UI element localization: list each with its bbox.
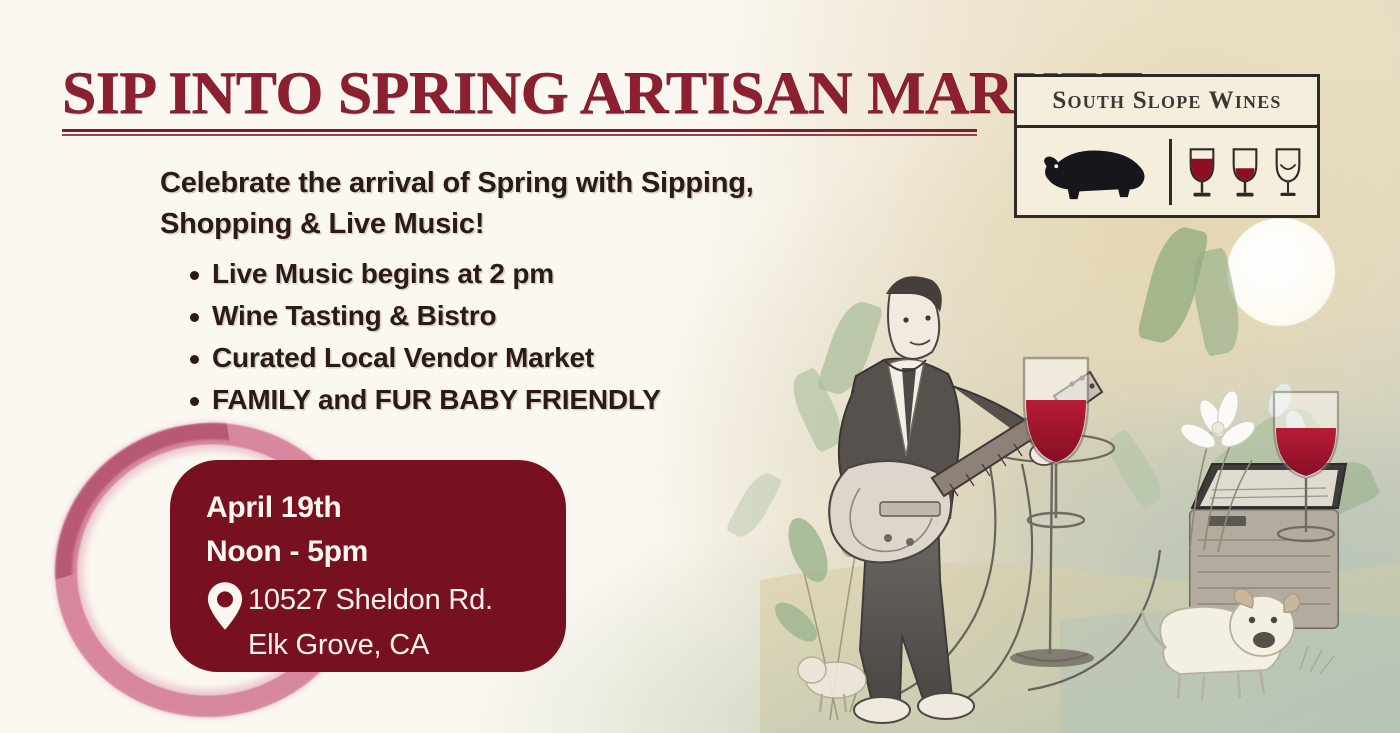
wine-glass-half-icon: [1228, 143, 1262, 201]
flyer-title-block: SIP INTO SPRING ARTISAN MARKET: [62, 62, 992, 136]
logo-emblem-bar: [1017, 128, 1317, 216]
pin-spacer: [206, 623, 250, 625]
lede-line-1: Celebrate the arrival of Spring with Sip…: [160, 163, 920, 204]
page-title: SIP INTO SPRING ARTISAN MARKET: [62, 62, 1020, 124]
logo-glass-group: [1172, 143, 1317, 201]
list-item: Live Music begins at 2 pm: [160, 253, 920, 295]
list-item: Curated Local Vendor Market: [160, 337, 920, 379]
title-underline-rule: [62, 129, 977, 136]
address-row-2: Elk Grove, CA: [206, 623, 536, 667]
wine-glass-empty-icon: [1271, 143, 1305, 201]
address-line-2: Elk Grove, CA: [248, 623, 429, 667]
map-pin-icon: [206, 578, 250, 637]
list-item: FAMILY and FUR BABY FRIENDLY: [160, 379, 920, 421]
logo-name-bar: South Slope Wines: [1017, 77, 1317, 128]
pig-silhouette-icon: [1017, 141, 1169, 203]
feature-list: Live Music begins at 2 pm Wine Tasting &…: [160, 253, 920, 421]
list-item: Wine Tasting & Bistro: [160, 295, 920, 337]
event-date: April 19th: [206, 486, 536, 530]
address-line-1: 10527 Sheldon Rd.: [248, 578, 493, 622]
south-slope-wines-logo: South Slope Wines: [1014, 74, 1320, 218]
flyer-canvas: SIP INTO SPRING ARTISAN MARKET South Slo…: [0, 0, 1400, 733]
logo-name-text: South Slope Wines: [1052, 87, 1281, 115]
event-details-card: April 19th Noon - 5pm 10527 Sheldon Rd. …: [170, 460, 566, 672]
lede-line-2: Shopping & Live Music!: [160, 204, 920, 245]
event-description-block: Celebrate the arrival of Spring with Sip…: [160, 163, 920, 421]
event-time: Noon - 5pm: [206, 530, 536, 574]
wine-glass-full-icon: [1185, 143, 1219, 201]
